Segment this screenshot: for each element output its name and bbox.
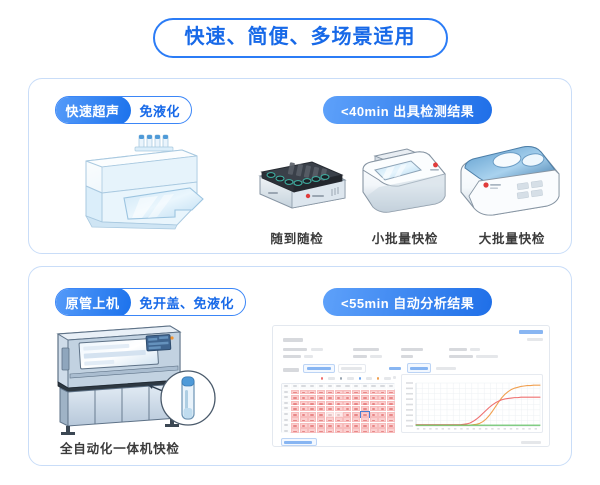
plate-well[interactable] <box>387 428 395 433</box>
plate-well[interactable] <box>326 423 334 428</box>
plate-well[interactable] <box>352 395 360 400</box>
analysis-software-screenshot <box>272 325 550 447</box>
sw-meta-label <box>449 355 473 358</box>
plate-well[interactable] <box>317 412 325 417</box>
sw-meta-value <box>476 355 498 358</box>
plate-well[interactable] <box>317 428 325 433</box>
plate-well[interactable] <box>387 390 395 395</box>
automated-workstation-icon <box>52 322 224 438</box>
plate-well[interactable] <box>378 412 386 417</box>
plate-well[interactable] <box>361 428 369 433</box>
plate-well[interactable] <box>300 423 308 428</box>
sw-chart-tab-active-label <box>410 367 428 370</box>
plate-well[interactable] <box>300 390 308 395</box>
plate-col-header <box>343 384 351 389</box>
plate-well[interactable] <box>326 417 334 422</box>
plate-well[interactable] <box>291 395 299 400</box>
plate-well[interactable] <box>361 406 369 411</box>
plate-row-header <box>282 412 290 417</box>
plate-well[interactable] <box>352 423 360 428</box>
plate-well[interactable] <box>343 395 351 400</box>
sw-meta-label <box>401 348 423 351</box>
plate-well[interactable] <box>370 428 378 433</box>
plate-well[interactable] <box>387 401 395 406</box>
plate-well[interactable] <box>370 417 378 422</box>
plate-well[interactable] <box>378 423 386 428</box>
plate-well[interactable] <box>361 390 369 395</box>
plate-well[interactable] <box>326 401 334 406</box>
plate-well[interactable] <box>291 428 299 433</box>
plate-well[interactable] <box>317 406 325 411</box>
page-title: 快速、简便、多场景适用 <box>153 18 448 58</box>
plate-row-header <box>282 406 290 411</box>
plate-well[interactable] <box>326 406 334 411</box>
plate-well[interactable] <box>300 412 308 417</box>
benchtop-analyzer-icon <box>355 140 455 216</box>
plate-well[interactable] <box>326 390 334 395</box>
plate-well[interactable] <box>352 406 360 411</box>
plate-col-header <box>370 384 378 389</box>
plate-well[interactable] <box>335 395 343 400</box>
plate-well[interactable] <box>378 401 386 406</box>
tag-55min-result: <55min 自动分析结果 <box>323 288 492 316</box>
tag-original-tube-secondary: 免开盖、免液化 <box>131 289 246 315</box>
plate-row-header <box>282 401 290 406</box>
plate-well[interactable] <box>343 412 351 417</box>
plate-well[interactable] <box>308 406 316 411</box>
plate-well[interactable] <box>343 406 351 411</box>
plate-col-header <box>352 384 360 389</box>
sw-meta-value <box>311 348 323 351</box>
plate-well[interactable] <box>335 423 343 428</box>
sw-plate-more[interactable] <box>393 376 396 379</box>
ultrasonic-bath-icon <box>62 132 222 234</box>
plate-well[interactable] <box>387 417 395 422</box>
plate-well[interactable] <box>335 401 343 406</box>
plate-well[interactable] <box>308 423 316 428</box>
plate-well[interactable] <box>335 417 343 422</box>
plate-well[interactable] <box>370 423 378 428</box>
plate-col-header <box>308 384 316 389</box>
plate-well[interactable] <box>378 417 386 422</box>
legend-label <box>347 377 354 380</box>
plate-well[interactable] <box>370 412 378 417</box>
plate-well[interactable] <box>308 412 316 417</box>
legend-dot-negative <box>340 377 342 380</box>
plate-well[interactable] <box>352 390 360 395</box>
plate-well[interactable] <box>378 395 386 400</box>
plate-well[interactable] <box>343 428 351 433</box>
plate-row-header <box>282 428 290 433</box>
plate-well[interactable] <box>291 401 299 406</box>
sw-tab-active-label <box>307 367 331 370</box>
plate-well[interactable] <box>361 401 369 406</box>
plate-well[interactable] <box>343 390 351 395</box>
plate-well[interactable] <box>343 423 351 428</box>
plate-well[interactable] <box>343 417 351 422</box>
plate-well[interactable] <box>291 390 299 395</box>
plate-col-header <box>326 384 334 389</box>
plate-well[interactable] <box>387 395 395 400</box>
legend-label <box>366 377 373 380</box>
automated-caption: 全自动化一体机快检 <box>60 438 220 457</box>
legend-dot-invalid <box>377 377 379 380</box>
plate-row-header <box>282 417 290 422</box>
plate-well[interactable] <box>370 390 378 395</box>
sw-meta-value <box>370 355 382 358</box>
plate-well[interactable] <box>352 428 360 433</box>
legend-label <box>328 377 335 380</box>
page-title-container: 快速、简便、多场景适用 <box>0 18 600 58</box>
plate-well[interactable] <box>378 428 386 433</box>
plate-well[interactable] <box>370 395 378 400</box>
device-caption-small-batch: 小批量快检 <box>360 228 450 247</box>
sw-tabs-label <box>283 368 299 372</box>
plate-well[interactable] <box>317 395 325 400</box>
legend-dot-positive <box>321 377 323 380</box>
legend-label <box>384 377 391 380</box>
plate-well[interactable] <box>308 390 316 395</box>
tag-original-tube: 原管上机 免开盖、免液化 <box>55 288 246 316</box>
tag-fast-ultrasonic: 快速超声 免液化 <box>55 96 192 124</box>
plate-well[interactable] <box>300 401 308 406</box>
sw-tab-inactive-label <box>341 367 362 370</box>
device-caption-large-batch: 大批量快检 <box>467 228 557 247</box>
plate-heatmap[interactable] <box>281 383 395 433</box>
tag-fast-ultrasonic-primary: 快速超声 <box>55 96 131 124</box>
plate-well[interactable] <box>361 395 369 400</box>
plate-row-header <box>282 423 290 428</box>
sw-export-label <box>284 441 312 444</box>
plate-well[interactable] <box>291 423 299 428</box>
plate-well[interactable] <box>300 395 308 400</box>
plate-well[interactable] <box>291 417 299 422</box>
plate-well[interactable] <box>352 401 360 406</box>
plate-well[interactable] <box>317 417 325 422</box>
tag-fast-ultrasonic-secondary: 免液化 <box>131 97 192 123</box>
plate-well[interactable] <box>300 417 308 422</box>
multi-well-analyzer-icon <box>252 142 352 214</box>
plate-col-header <box>335 384 343 389</box>
plate-well[interactable] <box>387 412 395 417</box>
sample-tube-magnifier-icon <box>161 371 215 425</box>
plate-col-header <box>361 384 369 389</box>
plate-well[interactable] <box>317 390 325 395</box>
plate-well[interactable] <box>308 395 316 400</box>
plate-col-header <box>300 384 308 389</box>
plate-col-header <box>282 384 290 389</box>
plate-well[interactable] <box>291 406 299 411</box>
plate-well[interactable] <box>352 417 360 422</box>
plate-well[interactable] <box>361 423 369 428</box>
large-batch-analyzer-icon <box>455 138 567 218</box>
plate-well[interactable] <box>317 423 325 428</box>
sw-topbar-label <box>527 338 543 341</box>
plate-well[interactable] <box>300 406 308 411</box>
sw-meta-label <box>449 348 467 351</box>
plate-col-header <box>291 384 299 389</box>
plate-well[interactable] <box>308 401 316 406</box>
plate-well[interactable] <box>317 401 325 406</box>
plate-well[interactable] <box>326 412 334 417</box>
plate-well[interactable] <box>308 417 316 422</box>
plate-well[interactable] <box>335 406 343 411</box>
infographic-root: 快速、简便、多场景适用 快速超声 免液化 <40min 出具检测结果 <box>0 0 600 485</box>
plate-well[interactable] <box>300 428 308 433</box>
sw-meta-label <box>283 355 301 358</box>
tag-40min-result: <40min 出具检测结果 <box>323 96 492 124</box>
sw-meta-value <box>470 348 480 351</box>
sw-meta-label <box>353 355 367 358</box>
device-caption-walk-in: 随到随检 <box>261 228 333 247</box>
sw-heading <box>283 338 303 342</box>
plate-well[interactable] <box>378 390 386 395</box>
plate-well[interactable] <box>361 417 369 422</box>
plate-well[interactable] <box>343 401 351 406</box>
legend-dot-control <box>359 377 361 380</box>
sw-meta-label <box>353 348 379 351</box>
plate-well[interactable] <box>335 412 343 417</box>
plate-well[interactable] <box>378 406 386 411</box>
plate-well[interactable] <box>308 428 316 433</box>
sw-column-settings[interactable] <box>521 441 541 444</box>
plate-col-header <box>378 384 386 389</box>
plate-well[interactable] <box>326 428 334 433</box>
plate-row-header <box>282 390 290 395</box>
sw-meta-label <box>283 348 307 351</box>
plate-well[interactable] <box>291 412 299 417</box>
plate-well[interactable] <box>387 406 395 411</box>
tag-original-tube-primary: 原管上机 <box>55 288 131 316</box>
sw-chart-tab-inactive-label[interactable] <box>436 367 456 370</box>
plate-well[interactable] <box>326 395 334 400</box>
plate-well[interactable] <box>370 401 378 406</box>
plate-well[interactable] <box>387 423 395 428</box>
plate-col-header <box>317 384 325 389</box>
sw-link[interactable] <box>389 367 401 370</box>
plate-well[interactable] <box>335 428 343 433</box>
plate-well[interactable] <box>335 390 343 395</box>
plate-well[interactable] <box>352 412 360 417</box>
plate-col-header <box>387 384 395 389</box>
amplification-chart[interactable] <box>401 374 543 433</box>
plate-well[interactable] <box>370 406 378 411</box>
plate-row-header <box>282 395 290 400</box>
sw-meta-label <box>401 355 413 358</box>
plate-well[interactable] <box>361 412 369 417</box>
sw-meta-value <box>304 355 313 358</box>
sw-topbar-chip <box>519 330 543 334</box>
sw-plate-legend <box>321 376 391 381</box>
